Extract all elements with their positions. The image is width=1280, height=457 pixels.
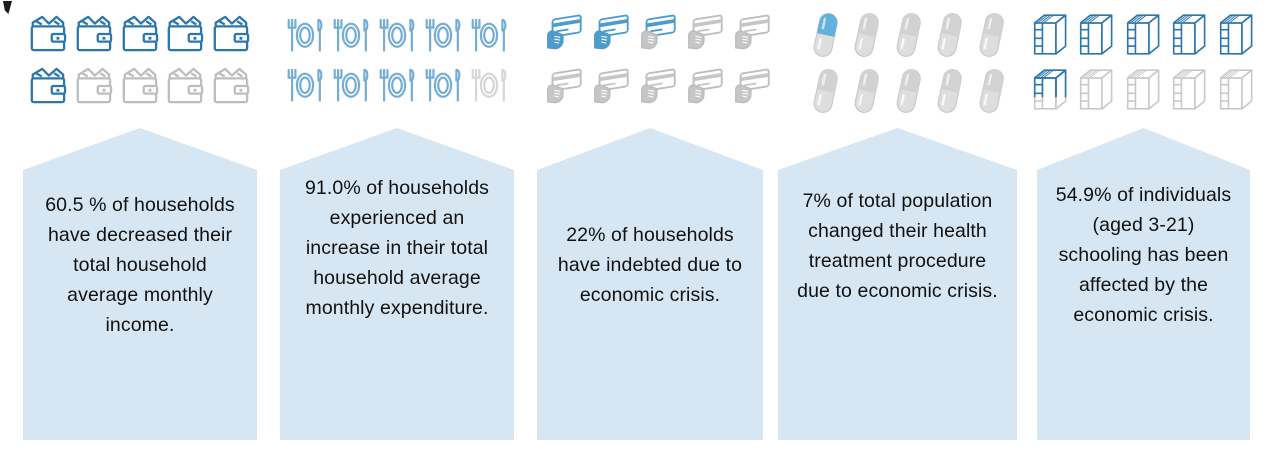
panel-income-text: 60.5 % of households have decreased thei… <box>23 190 257 340</box>
wallet-icon <box>165 62 207 110</box>
wallet-icon <box>28 10 70 58</box>
pill-capsule-icon <box>972 65 1011 117</box>
panel-schooling[interactable]: 54.9% of individuals (aged 3-21) schooli… <box>1037 128 1250 440</box>
infographic-root: 60.5 % of households have decreased thei… <box>0 0 1280 457</box>
pill-capsule-icon <box>806 9 845 61</box>
plate-cutlery-icon <box>329 12 373 59</box>
hand-credit-card-icon <box>545 8 592 62</box>
panel-health[interactable]: 7% of total population changed their hea… <box>778 128 1017 440</box>
hand-credit-card-icon <box>639 8 686 62</box>
wallet-icon <box>28 62 70 110</box>
hand-credit-card-icon <box>639 62 686 116</box>
pill-capsule-icon <box>930 9 969 61</box>
book-icon <box>1027 63 1071 116</box>
panel-health-text: 7% of total population changed their hea… <box>778 186 1017 306</box>
pill-capsule-icon <box>930 65 969 117</box>
panel-income[interactable]: 60.5 % of households have decreased thei… <box>23 128 257 440</box>
hand-credit-card-icon <box>545 62 592 116</box>
plate-cutlery-icon <box>467 62 511 109</box>
wallet-icon <box>74 10 116 58</box>
plate-cutlery-icon <box>421 12 465 59</box>
plate-cutlery-icon <box>421 62 465 109</box>
hand-credit-card-icon <box>592 62 639 116</box>
book-icon <box>1073 8 1117 61</box>
plate-cutlery-icon <box>283 62 327 109</box>
panel-expenditure[interactable]: 91.0% of households experienced an incre… <box>280 128 514 440</box>
panel-debt[interactable]: 22% of households have indebted due to e… <box>537 128 763 440</box>
pill-capsule-icon-group <box>806 9 1011 117</box>
wallet-icon <box>74 62 116 110</box>
plate-cutlery-icon <box>375 12 419 59</box>
wallet-icon <box>165 10 207 58</box>
pill-capsule-icon <box>847 9 886 61</box>
panel-schooling-text: 54.9% of individuals (aged 3-21) schooli… <box>1037 180 1250 330</box>
hand-credit-card-icon <box>686 8 733 62</box>
hand-credit-card-icon <box>733 8 780 62</box>
book-icon <box>1027 8 1071 61</box>
hand-credit-card-icon <box>592 8 639 62</box>
pill-capsule-icon <box>847 65 886 117</box>
stray-glyph-mark <box>3 1 12 14</box>
plate-cutlery-icon <box>283 12 327 59</box>
plate-cutlery-icon <box>375 62 419 109</box>
wallet-icon <box>211 62 253 110</box>
pill-capsule-icon <box>972 9 1011 61</box>
book-icon <box>1166 8 1210 61</box>
pill-capsule-icon <box>806 65 845 117</box>
book-icon-group <box>1027 8 1257 116</box>
wallet-icon <box>120 62 162 110</box>
hand-credit-card-icon <box>686 62 733 116</box>
book-icon <box>1213 8 1257 61</box>
hand-credit-card-icon <box>733 62 780 116</box>
book-icon <box>1120 63 1164 116</box>
wallet-icon-group <box>28 10 253 110</box>
panel-expenditure-text: 91.0% of households experienced an incre… <box>280 173 514 323</box>
pill-capsule-icon <box>889 9 928 61</box>
plate-cutlery-icon <box>329 62 373 109</box>
plate-cutlery-icon-group <box>283 12 511 108</box>
book-icon <box>1073 63 1117 116</box>
wallet-icon <box>211 10 253 58</box>
book-icon <box>1166 63 1210 116</box>
pill-capsule-icon <box>889 65 928 117</box>
panel-debt-text: 22% of households have indebted due to e… <box>537 220 763 310</box>
plate-cutlery-icon <box>467 12 511 59</box>
book-icon <box>1120 8 1164 61</box>
hand-credit-card-icon-group <box>545 8 780 116</box>
book-icon <box>1213 63 1257 116</box>
wallet-icon <box>120 10 162 58</box>
